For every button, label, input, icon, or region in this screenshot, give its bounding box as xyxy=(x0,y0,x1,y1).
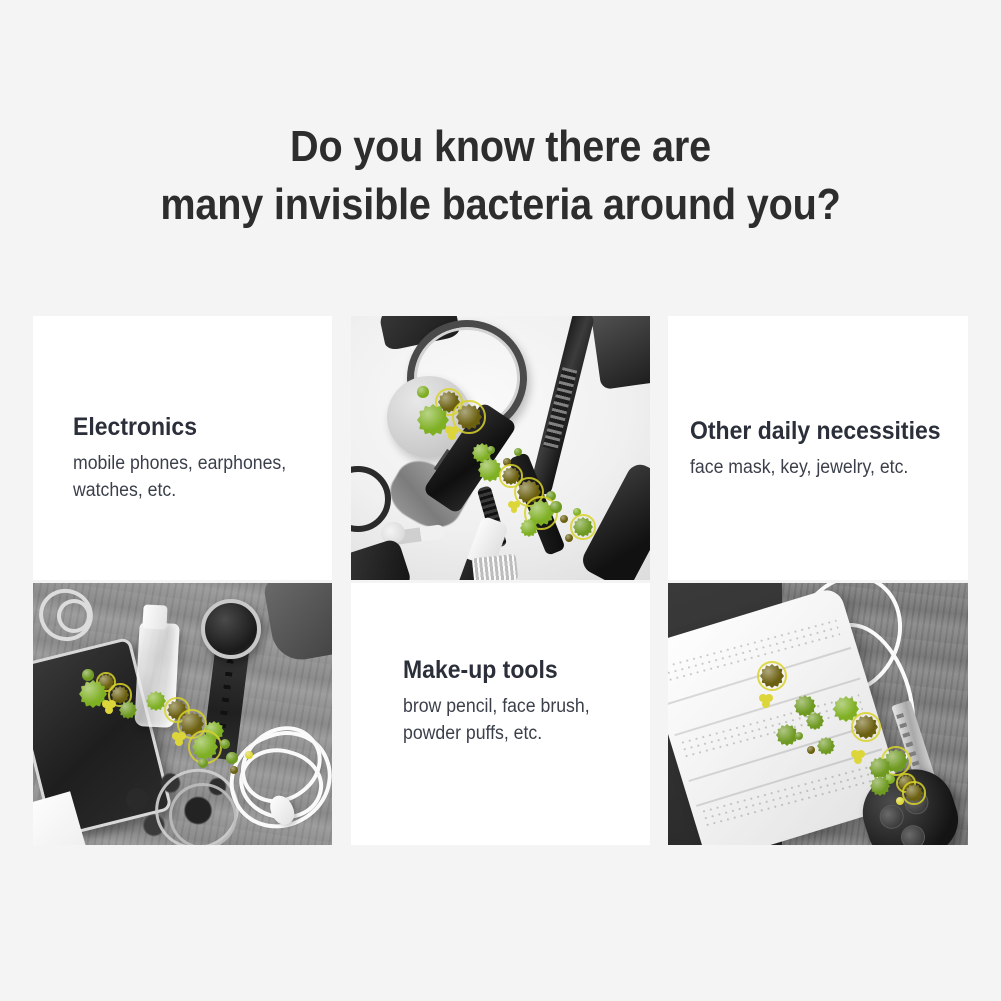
photo-necessities xyxy=(668,583,968,845)
headline-line-2: many invisible bacteria around you? xyxy=(50,176,951,234)
card-body-line: face mask, key, jewelry, etc. xyxy=(690,454,926,481)
bacteria-dot xyxy=(562,531,576,545)
sanitizer-cap xyxy=(142,604,167,629)
bacteria-dot xyxy=(870,776,890,796)
bacteria-dot xyxy=(817,737,835,755)
card-necessities-text: Other daily necessities face mask, key, … xyxy=(668,316,968,580)
key-button xyxy=(898,822,928,845)
bacteria-dot xyxy=(195,755,211,771)
card-heading-necessities: Other daily necessities xyxy=(690,416,924,446)
bacteria-dot xyxy=(243,749,255,761)
bacteria-dot xyxy=(557,512,571,526)
headline-line-1: Do you know there are xyxy=(50,118,951,176)
bacteria-dot xyxy=(760,664,784,688)
bacteria-dot xyxy=(485,444,497,456)
makeup-scene xyxy=(351,316,650,580)
card-makeup-text: Make-up tools brow pencil, face brush, p… xyxy=(351,583,650,845)
bacteria-cluster xyxy=(759,694,773,708)
bacteria-dot xyxy=(456,404,482,430)
page-title: Do you know there are many invisible bac… xyxy=(50,118,951,234)
bacteria-dot xyxy=(806,712,824,730)
card-body-line: watches, etc. xyxy=(73,477,292,504)
poster-canvas: Do you know there are many invisible bac… xyxy=(0,0,1001,1001)
card-heading-makeup: Make-up tools xyxy=(403,655,608,685)
bacteria-cluster xyxy=(851,750,865,764)
necessities-scene xyxy=(668,583,968,845)
bacteria-dot xyxy=(511,445,525,459)
bacteria-dot xyxy=(478,458,502,482)
bacteria-cluster xyxy=(172,732,186,746)
electronics-scene xyxy=(33,583,332,845)
card-body-line: brow pencil, face brush, xyxy=(403,693,610,720)
card-body-line: mobile phones, earphones, xyxy=(73,450,292,477)
photo-electronics xyxy=(33,583,332,845)
brow-comb xyxy=(472,554,518,580)
card-heading-electronics: Electronics xyxy=(73,412,289,442)
bacteria-dot xyxy=(414,383,432,401)
bacteria-dot xyxy=(573,517,593,537)
bacteria-dot xyxy=(146,691,166,711)
bacteria-dot xyxy=(227,763,241,777)
bacteria-cluster xyxy=(102,700,116,714)
watch-face xyxy=(201,599,261,659)
bacteria-dot xyxy=(804,743,818,757)
photo-makeup-tools xyxy=(351,316,650,580)
bacteria-dot xyxy=(119,701,137,719)
card-body-electronics: mobile phones, earphones, watches, etc. xyxy=(73,450,292,504)
bacteria-cluster xyxy=(508,501,520,513)
card-electronics-text: Electronics mobile phones, earphones, wa… xyxy=(33,316,332,580)
bacteria-dot xyxy=(894,795,906,807)
bacteria-cluster xyxy=(445,426,459,440)
card-body-makeup: brow pencil, face brush, powder puffs, e… xyxy=(403,693,610,747)
bacteria-dot xyxy=(854,715,878,739)
bacteria-dot xyxy=(792,729,806,743)
bacteria-dot xyxy=(520,519,538,537)
bacteria-dot xyxy=(905,784,923,802)
card-body-line: powder puffs, etc. xyxy=(403,720,610,747)
card-body-necessities: face mask, key, jewelry, etc. xyxy=(690,454,926,481)
